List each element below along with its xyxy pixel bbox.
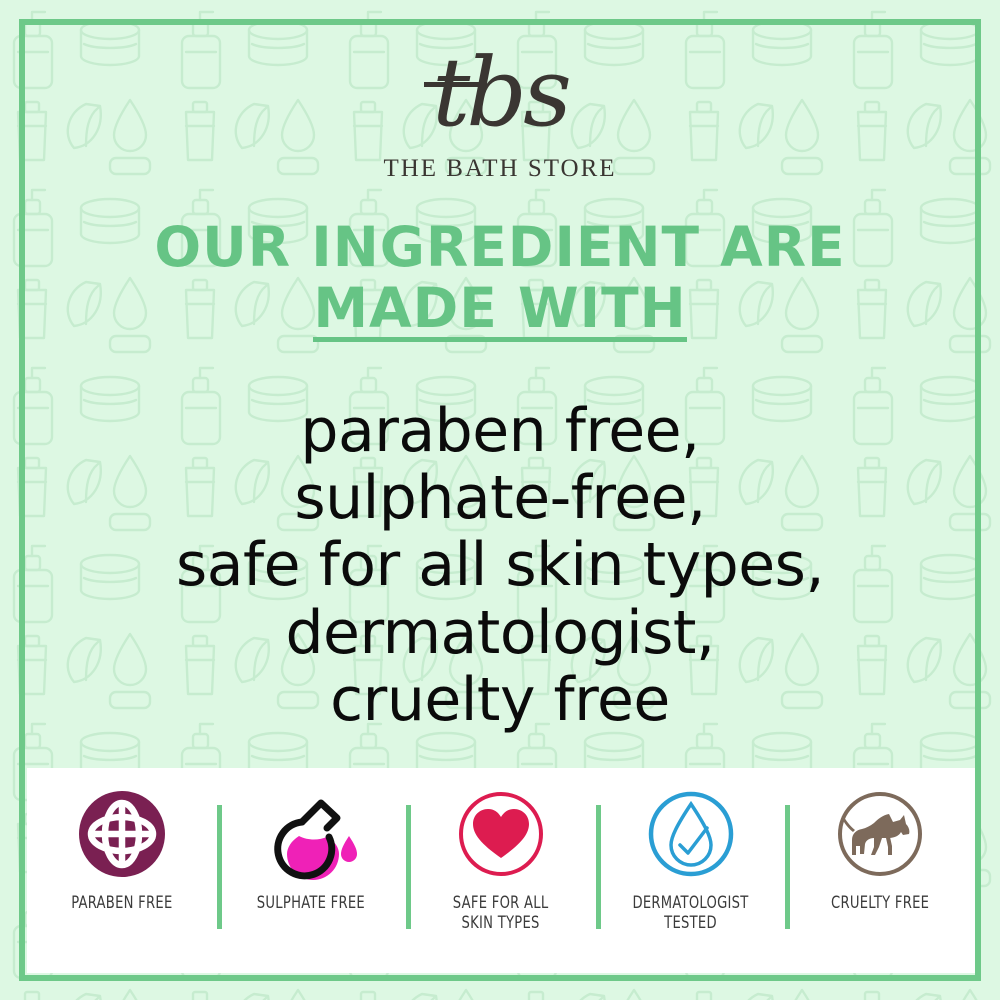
brand-logo: tbs THE BATH STORE — [0, 46, 1000, 183]
badge-label-line: CRUELTY FREE — [831, 894, 929, 914]
dermatologist-tested-droplet-check-icon — [641, 784, 741, 884]
sulphate-free-flask-icon — [261, 784, 361, 884]
badge-label-line: SULPHATE FREE — [257, 894, 365, 914]
badge-label: SAFE FOR ALL SKIN TYPES — [453, 894, 549, 933]
claim-line: dermatologist, — [0, 600, 1000, 667]
badge-label: CRUELTY FREE — [831, 894, 929, 914]
badge-cruelty-free: CRUELTY FREE — [785, 768, 975, 973]
badge-safe-for-all-skin-types: SAFE FOR ALL SKIN TYPES — [406, 768, 596, 973]
badge-label: PARABEN FREE — [71, 894, 172, 914]
badge-label-line: TESTED — [633, 914, 749, 934]
safe-for-all-skin-types-heart-icon — [451, 784, 551, 884]
cruelty-free-dog-icon — [830, 784, 930, 884]
badge-label-line: DERMATOLOGIST — [633, 894, 749, 914]
badge-label-line: SAFE FOR ALL — [453, 894, 549, 914]
badge-sulphate-free: SULPHATE FREE — [217, 768, 407, 973]
claims-list: paraben free, sulphate-free, safe for al… — [0, 398, 1000, 734]
claim-line: paraben free, — [0, 398, 1000, 465]
badge-label-line: PARABEN FREE — [71, 894, 172, 914]
headline-line-2-underlined: MADE WITH — [313, 283, 686, 343]
badge-paraben-free: PARABEN FREE — [27, 768, 217, 973]
page-title: OUR INGREDIENT ARE MADE WITH — [0, 222, 1000, 342]
paraben-free-molecule-icon — [72, 784, 172, 884]
badge-label-line: SKIN TYPES — [453, 914, 549, 934]
claim-line: safe for all skin types, — [0, 532, 1000, 599]
claim-line: cruelty free — [0, 667, 1000, 734]
logo-wordmark-text: tbs — [432, 38, 568, 148]
claim-line: sulphate-free, — [0, 465, 1000, 532]
logo-tagline: THE BATH STORE — [0, 155, 1000, 183]
logo-t-crossbar — [424, 82, 486, 87]
logo-wordmark: tbs — [432, 46, 568, 141]
headline-line-1: OUR INGREDIENT ARE — [0, 222, 1000, 273]
badge-dermatologist-tested: DERMATOLOGIST TESTED — [596, 768, 786, 973]
badge-label: SULPHATE FREE — [257, 894, 365, 914]
certification-badge-panel: PARABEN FREE SULPHATE FREE — [27, 768, 975, 973]
badge-label: DERMATOLOGIST TESTED — [633, 894, 749, 933]
